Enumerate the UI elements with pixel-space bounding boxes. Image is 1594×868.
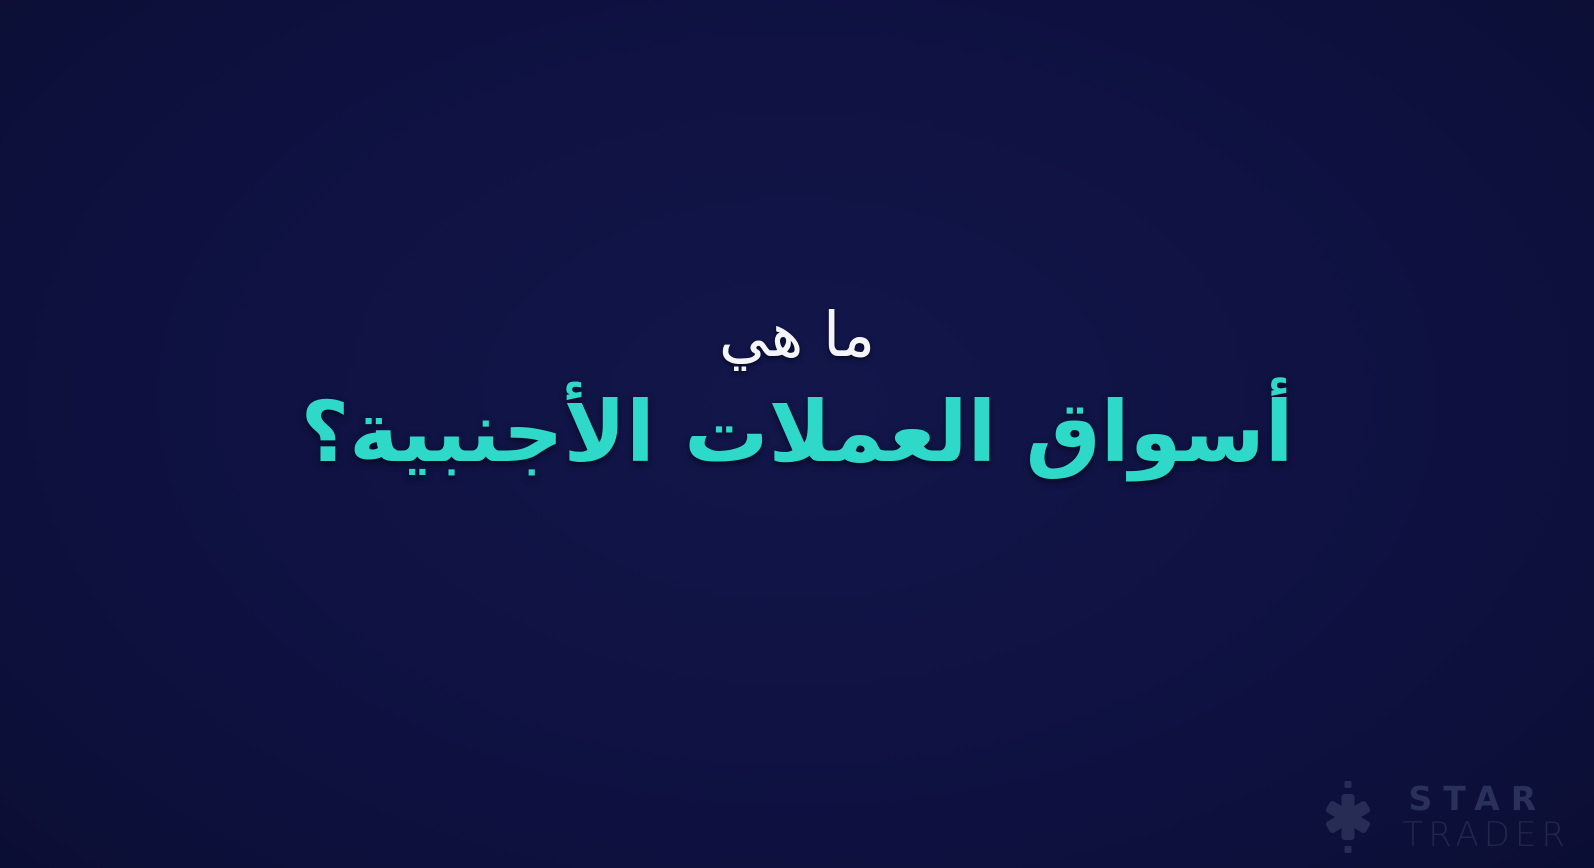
headline-main-line: أسواق العملات الأجنبية؟ <box>300 383 1293 482</box>
title-block: ما هي أسواق العملات الأجنبية؟ <box>0 300 1594 483</box>
brand-name-secondary: TRADER <box>1397 818 1570 852</box>
title-card-stage: ما هي أسواق العملات الأجنبية؟ STAR TRADE… <box>0 0 1594 868</box>
brand-wordmark: STAR TRADER <box>1397 782 1570 852</box>
six-point-asterisk-star-icon <box>1315 780 1381 854</box>
brand-name-primary: STAR <box>1397 782 1547 815</box>
headline-lead-line: ما هي <box>719 300 875 369</box>
brand-watermark: STAR TRADER <box>1315 780 1570 854</box>
